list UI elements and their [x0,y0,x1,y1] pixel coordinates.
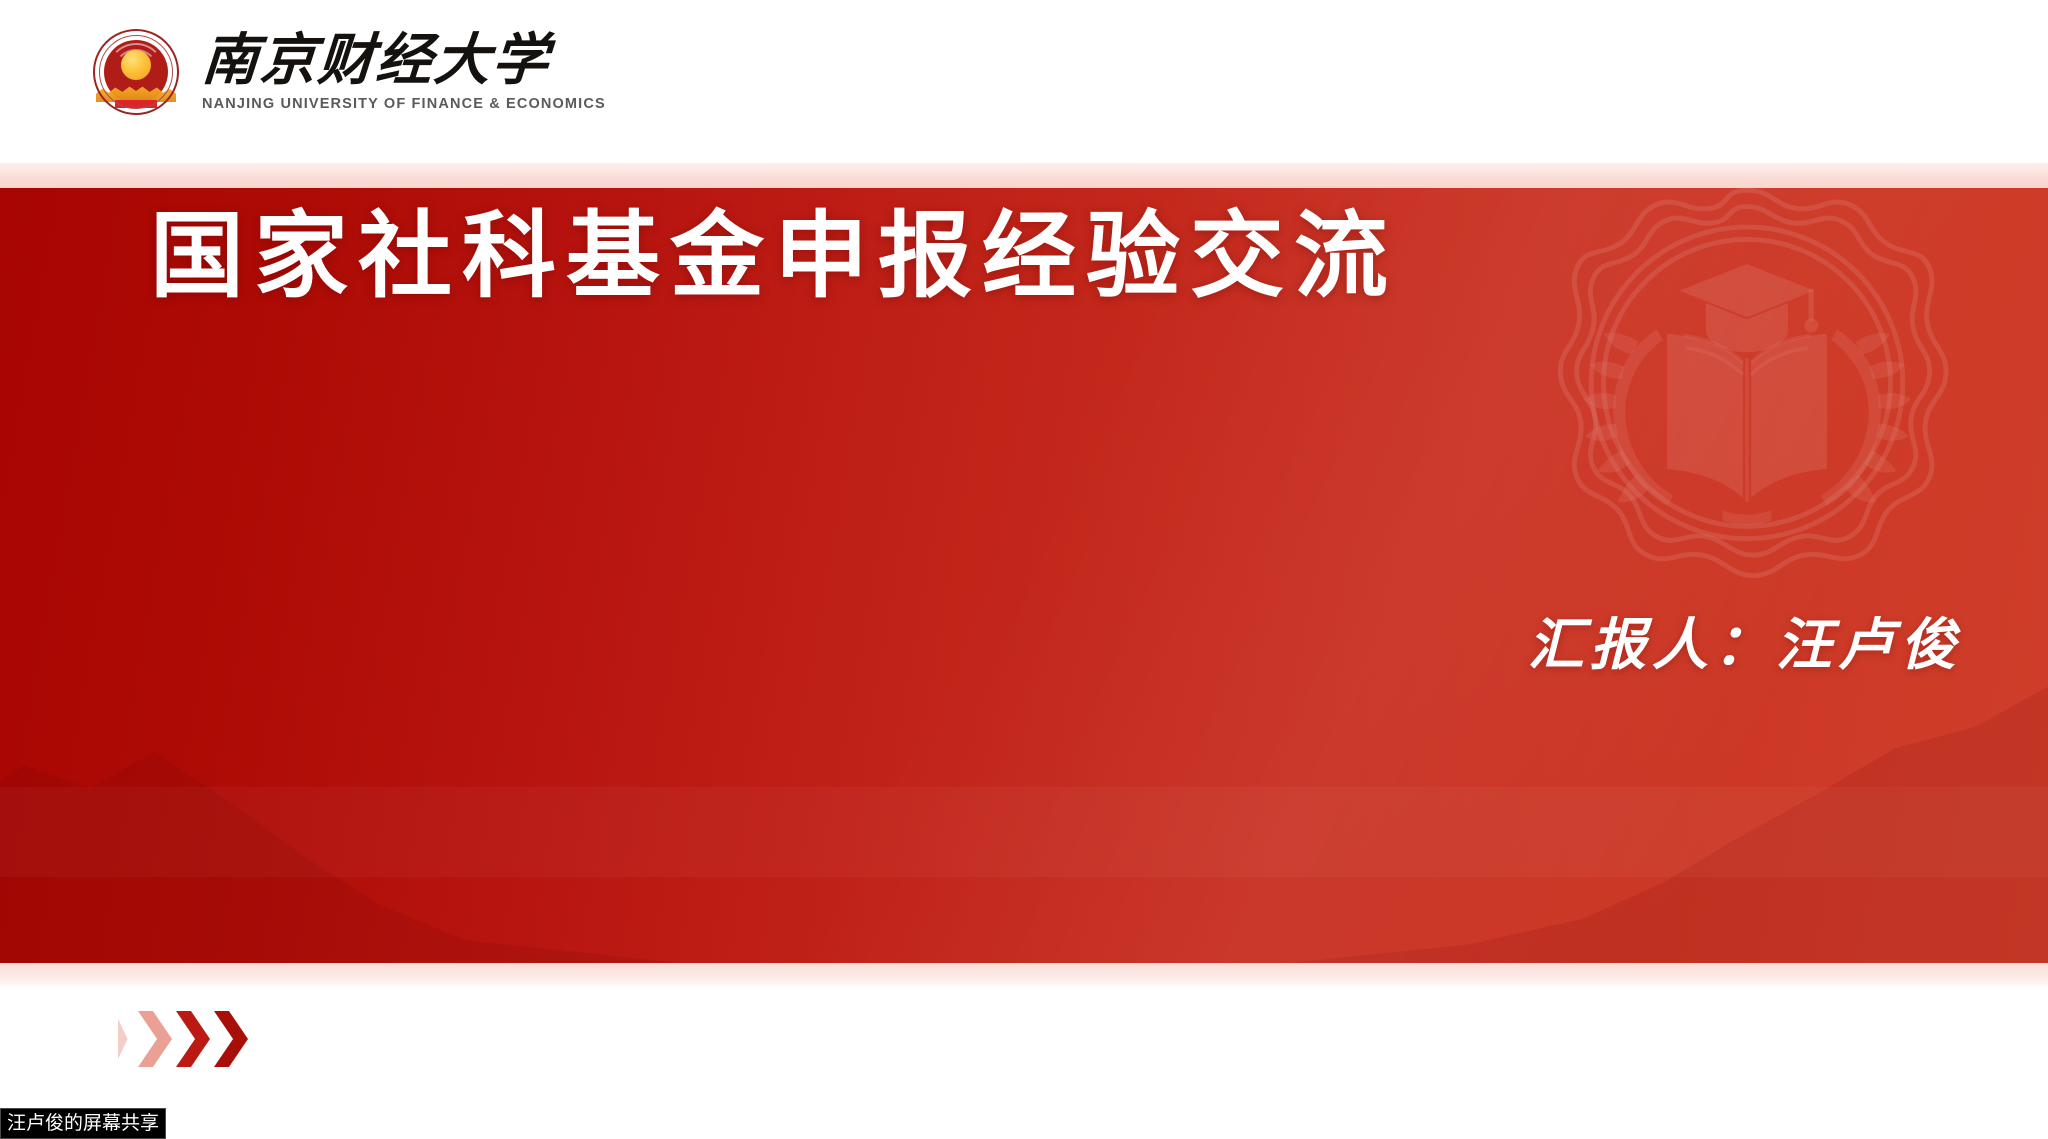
screen-share-label: 汪卢俊的屏幕共享 [7,1108,159,1139]
divider-band-top [0,163,2048,188]
university-name-en: NANJING UNIVERSITY OF FINANCE & ECONOMIC… [202,96,606,112]
screen-share-status-bar: 汪卢俊的屏幕共享 [0,1108,166,1139]
slide-header: 南京财经大学 NANJING UNIVERSITY OF FINANCE & E… [0,0,2048,163]
divider-band-bottom [0,963,2048,987]
chevron-right-icon-2 [176,1011,210,1067]
page-title: 国家社科基金申报经验交流 [150,205,1398,308]
university-name-cn: 南京财经大学 [200,32,608,89]
university-logo-lockup: 南京财经大学 NANJING UNIVERSITY OF FINANCE & E… [92,28,606,116]
background-mountain-left [0,633,680,963]
triple-chevron-right-icon [118,1011,248,1067]
slide-footer [0,987,2048,1139]
university-seal-sunrise-icon [92,28,180,116]
chevron-right-icon-1 [138,1011,172,1067]
chevron-right-icon-0 [118,1011,134,1067]
seal-outer-ring [93,29,179,115]
slide-canvas: 南京财经大学 NANJING UNIVERSITY OF FINANCE & E… [0,0,2048,1139]
presenter-byline: 汇报人：汪卢俊 [1528,600,1962,681]
chevron-right-icon-3 [214,1011,248,1067]
university-wordmark: 南京财经大学 NANJING UNIVERSITY OF FINANCE & E… [202,32,606,111]
background-floor-band [0,787,2048,877]
